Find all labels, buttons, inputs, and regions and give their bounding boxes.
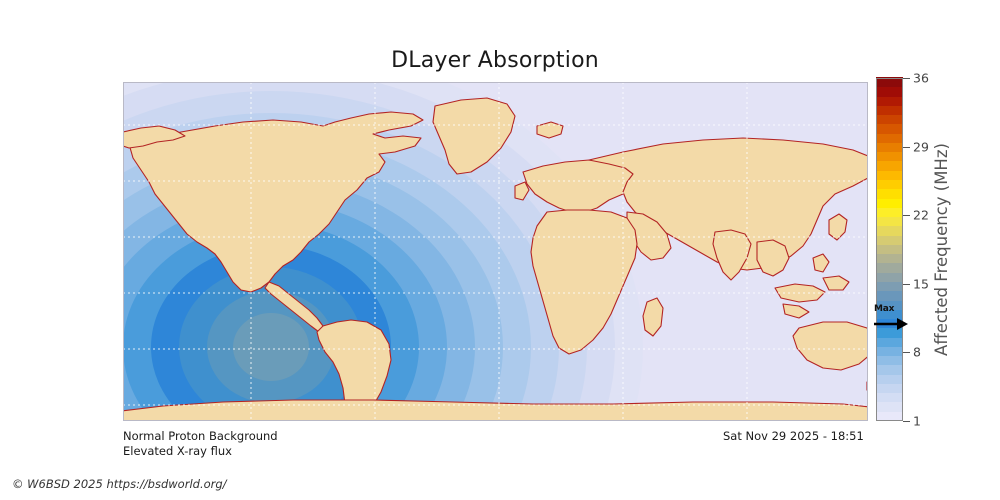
colorbar-tick: [903, 421, 910, 422]
colorbar-band: [876, 244, 903, 254]
colorbar-tick-label: 1: [913, 414, 921, 429]
colorbar-tick: [903, 352, 910, 353]
colorbar-axis-label: Affected Frequency (MHz): [927, 78, 955, 421]
colorbar-band: [876, 152, 903, 162]
status-annotations: Normal Proton Background Elevated X-ray …: [123, 429, 278, 459]
colorbar-band: [876, 179, 903, 189]
colorbar-band: [876, 328, 903, 338]
colorbar-band: [876, 291, 903, 301]
colorbar-band: [876, 393, 903, 403]
colorbar-band: [876, 115, 903, 125]
colorbar-band: [876, 281, 903, 291]
colorbar-band: [876, 383, 903, 393]
colorbar-band: [876, 133, 903, 143]
colorbar-band: [876, 300, 903, 310]
colorbar-band: [876, 189, 903, 199]
colorbar-tick: [903, 284, 910, 285]
colorbar-band: [876, 254, 903, 264]
colorbar-band: [876, 105, 903, 115]
xray-flux-status: Elevated X-ray flux: [123, 444, 278, 459]
colorbar-band: [876, 346, 903, 356]
colorbar-band: [876, 216, 903, 226]
colorbar-band: [876, 161, 903, 171]
colorbar-band: [876, 142, 903, 152]
colorbar-tick-label: 8: [913, 345, 921, 360]
colorbar-band: [876, 96, 903, 106]
colorbar-gradient: [876, 78, 903, 421]
colorbar-band: [876, 365, 903, 375]
colorbar-band: [876, 411, 903, 421]
colorbar-band: [876, 170, 903, 180]
colorbar-tick: [903, 78, 910, 79]
colorbar-tick: [903, 147, 910, 148]
colorbar-band: [876, 207, 903, 217]
colorbar-band: [876, 77, 903, 87]
colorbar-band: [876, 235, 903, 245]
world-map-svg: [123, 82, 868, 421]
world-map-panel[interactable]: [123, 82, 868, 421]
colorbar-band: [876, 356, 903, 366]
colorbar-band: [876, 226, 903, 236]
page-title: DLayer Absorption: [0, 48, 990, 73]
colorbar-band: [876, 263, 903, 273]
colorbar-axis-label-text: Affected Frequency (MHz): [932, 143, 951, 356]
colorbar-band: [876, 318, 903, 328]
footer-credit: © W6BSD 2025 https://bsdworld.org/: [12, 477, 227, 491]
colorbar-tick: [903, 215, 910, 216]
timestamp: Sat Nov 29 2025 - 18:51: [723, 429, 864, 444]
colorbar-band: [876, 374, 903, 384]
colorbar-band: [876, 272, 903, 282]
proton-background-status: Normal Proton Background: [123, 429, 278, 444]
colorbar-band: [876, 124, 903, 134]
dlayer-absorption-page: DLayer Absorption: [0, 0, 1000, 500]
colorbar-band: [876, 309, 903, 319]
colorbar-band: [876, 198, 903, 208]
colorbar-band: [876, 402, 903, 412]
colorbar-band: [876, 337, 903, 347]
colorbar[interactable]: 1815222936: [876, 78, 903, 421]
colorbar-band: [876, 87, 903, 97]
